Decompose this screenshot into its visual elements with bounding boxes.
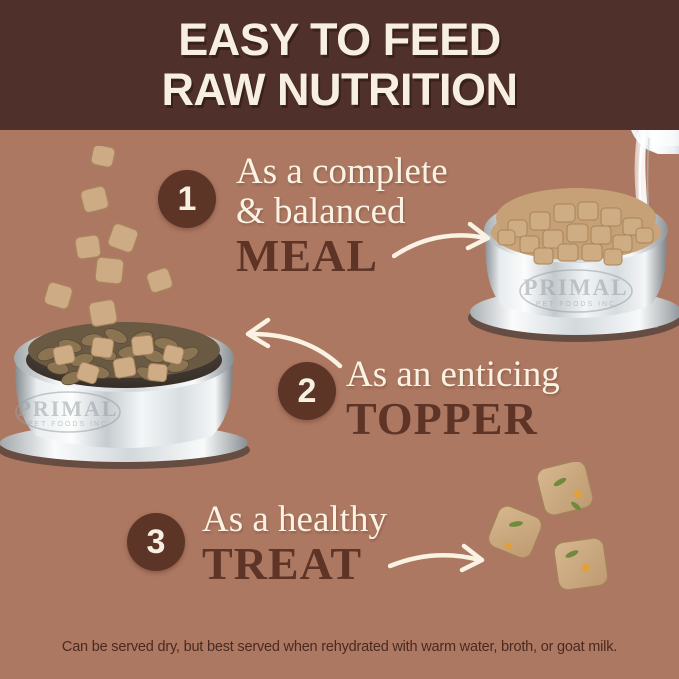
step-3-badge: 3 bbox=[127, 513, 185, 571]
step-2-number: 2 bbox=[298, 374, 317, 408]
infographic-canvas: EASY TO FEED RAW NUTRITION bbox=[0, 0, 679, 679]
curved-arrow-right-icon-3 bbox=[388, 540, 498, 584]
bowl-brand-logo-1: PRIMAL PET FOODS INC bbox=[520, 270, 632, 312]
step-2-strong-line: TOPPER bbox=[346, 395, 560, 443]
svg-text:PRIMAL: PRIMAL bbox=[17, 396, 118, 421]
step-2-script-line-1: As an enticing bbox=[346, 355, 560, 395]
step-2-badge: 2 bbox=[278, 362, 336, 420]
step-3-text: As a healthy TREAT bbox=[202, 500, 387, 588]
svg-text:PET FOODS INC: PET FOODS INC bbox=[536, 301, 616, 308]
svg-text:PRIMAL: PRIMAL bbox=[523, 275, 628, 300]
header-banner: EASY TO FEED RAW NUTRITION bbox=[0, 0, 679, 130]
footer-note: Can be served dry, but best served when … bbox=[0, 639, 679, 655]
header-title-line-2: RAW NUTRITION bbox=[162, 65, 518, 115]
header-title-line-1: EASY TO FEED bbox=[178, 15, 500, 65]
step-1-number: 1 bbox=[178, 182, 197, 216]
svg-text:PET FOODS INC: PET FOODS INC bbox=[28, 421, 108, 428]
step-3-strong-line: TREAT bbox=[202, 540, 387, 588]
step-3-number: 3 bbox=[147, 525, 166, 559]
bowl-brand-logo-2: PRIMAL PET FOODS INC bbox=[16, 392, 120, 432]
step-1-script-line-1: As a complete bbox=[236, 152, 448, 192]
curved-arrow-right-icon-1 bbox=[392, 222, 502, 264]
step-1-badge: 1 bbox=[158, 170, 216, 228]
step-2-text: As an enticing TOPPER bbox=[346, 355, 560, 443]
curved-arrow-left-icon-2 bbox=[234, 312, 344, 370]
step-3-script-line-1: As a healthy bbox=[202, 500, 387, 540]
